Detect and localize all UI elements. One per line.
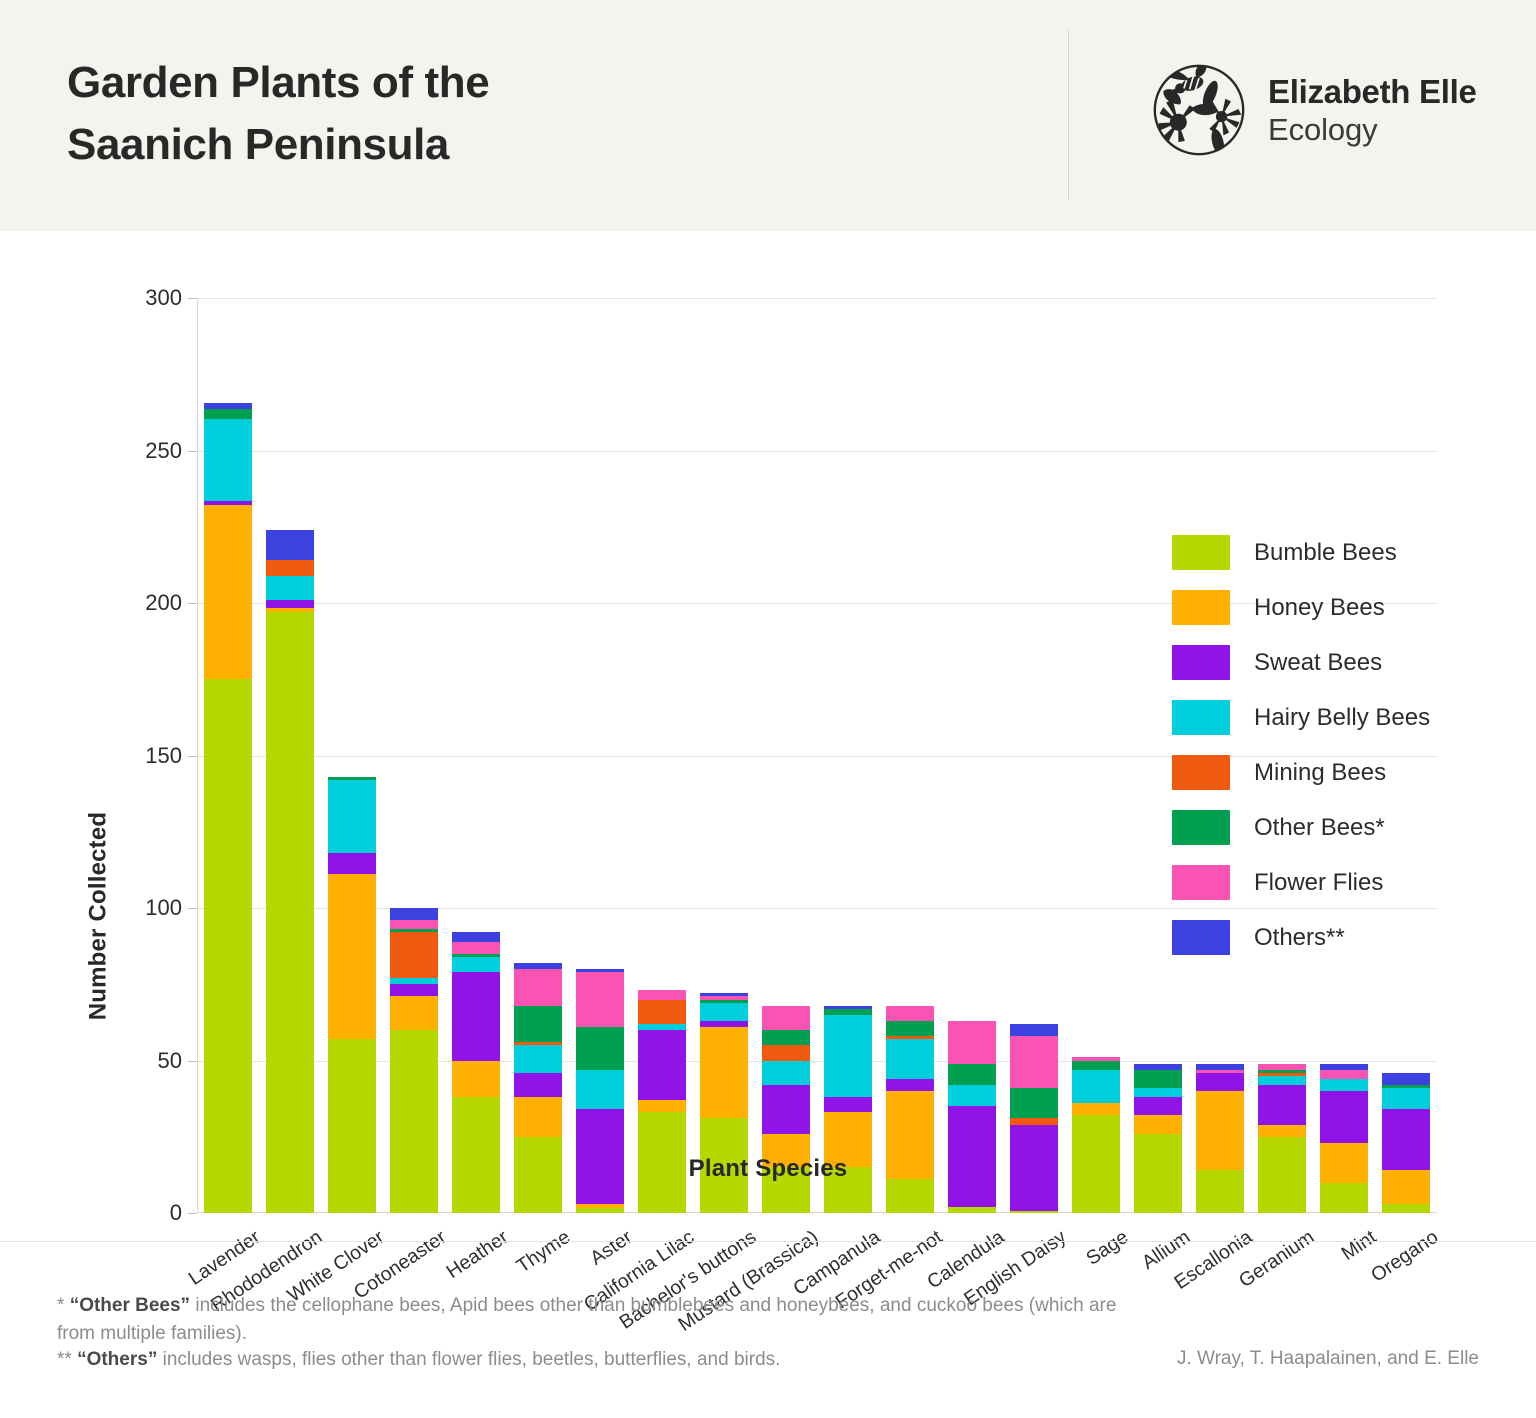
bar-segment xyxy=(1320,1070,1368,1079)
bar-segment xyxy=(1196,1073,1244,1091)
bar-sage[interactable] xyxy=(1072,1057,1120,1213)
footnote-others: ** “Others” includes wasps, flies other … xyxy=(57,1346,1117,1374)
y-axis-tick-mark xyxy=(188,908,197,909)
bar-segment xyxy=(1010,1036,1058,1088)
bar-segment xyxy=(204,419,252,501)
x-axis-label: Oregano xyxy=(1367,1226,1443,1288)
footnote-2-term: “Others” xyxy=(77,1349,157,1370)
footer-divider xyxy=(0,1241,1536,1242)
bar-segment xyxy=(1010,1088,1058,1119)
bar-segment xyxy=(700,1003,748,1021)
bar-segment xyxy=(390,920,438,929)
bar-segment xyxy=(1134,1097,1182,1115)
bar-segment xyxy=(328,780,376,853)
bar-segment xyxy=(1134,1115,1182,1133)
footnote-1-text: includes the cellophane bees, Apid bees … xyxy=(57,1295,1116,1344)
legend-swatch xyxy=(1172,865,1230,900)
bar-segment xyxy=(886,1021,934,1036)
bar-segment xyxy=(700,1027,748,1119)
legend-swatch xyxy=(1172,755,1230,790)
bar-segment xyxy=(948,1064,996,1085)
bar-oregano[interactable] xyxy=(1382,1073,1430,1213)
bar-segment xyxy=(1010,1024,1058,1036)
bar-segment xyxy=(452,957,500,972)
footnote-1-marker: * xyxy=(57,1295,70,1316)
legend-item[interactable]: Mining Bees xyxy=(1172,745,1502,800)
bar-segment xyxy=(638,990,686,999)
bar-segment xyxy=(266,600,314,608)
bar-segment xyxy=(514,1097,562,1137)
bar-segment xyxy=(824,1097,872,1112)
legend-label: Others** xyxy=(1254,924,1345,952)
legend-label: Other Bees* xyxy=(1254,814,1385,842)
bar-segment xyxy=(638,1000,686,1024)
y-axis-tick-mark xyxy=(188,1213,197,1214)
bar-segment xyxy=(452,972,500,1060)
x-axis-label: Thyme xyxy=(513,1226,575,1278)
y-axis-tick-mark xyxy=(188,756,197,757)
legend-label: Flower Flies xyxy=(1254,869,1383,897)
bar-segment xyxy=(576,1027,624,1070)
y-axis-tick-mark xyxy=(188,1061,197,1062)
bar-segment xyxy=(1320,1183,1368,1214)
bar-segment xyxy=(204,409,252,418)
bar-segment xyxy=(452,1061,500,1098)
x-axis-label: Sage xyxy=(1082,1226,1133,1271)
bar-segment xyxy=(1382,1073,1430,1085)
bar-segment xyxy=(762,1030,810,1045)
x-axis-label: Heather xyxy=(442,1226,512,1284)
bar-segment xyxy=(266,612,314,1213)
legend-item[interactable]: Honey Bees xyxy=(1172,580,1502,635)
footnote-1-term: “Other Bees” xyxy=(70,1295,190,1316)
page-title-line-2: Saanich Peninsula xyxy=(67,114,767,176)
brand-name: Elizabeth Elle xyxy=(1268,75,1477,108)
bar-segment xyxy=(1010,1211,1058,1213)
stacked-bar-chart: Number Collected 050100150200250300 Lave… xyxy=(0,231,1536,1241)
bar-segment xyxy=(328,874,376,1039)
bar-calendula[interactable] xyxy=(948,1021,996,1213)
legend-item[interactable]: Flower Flies xyxy=(1172,855,1502,910)
bar-segment xyxy=(514,1073,562,1097)
bar-segment xyxy=(824,1015,872,1097)
bar-segment xyxy=(390,1030,438,1213)
bar-segment xyxy=(1258,1085,1306,1125)
bar-segment xyxy=(514,969,562,1006)
bar-segment xyxy=(1320,1091,1368,1143)
bar-segment xyxy=(390,996,438,1030)
bar-segment xyxy=(886,1179,934,1213)
footnote-2-text: includes wasps, flies other than flower … xyxy=(157,1349,780,1370)
bar-segment xyxy=(762,1045,810,1060)
bar-segment xyxy=(204,679,252,1213)
bar-segment xyxy=(452,932,500,941)
bar-segment xyxy=(638,1100,686,1112)
bar-segment xyxy=(328,853,376,874)
bar-segment xyxy=(390,932,438,978)
page-header: Garden Plants of the Saanich Peninsula xyxy=(0,0,1536,231)
bar-segment xyxy=(1072,1061,1120,1070)
bee-flower-circle-logo-icon xyxy=(1152,63,1246,157)
bar-segment xyxy=(762,1085,810,1134)
bar-segment xyxy=(948,1021,996,1064)
brand-text: Elizabeth Elle Ecology xyxy=(1268,75,1477,145)
y-axis-tick-label: 200 xyxy=(72,590,182,616)
bar-rhododendron[interactable] xyxy=(266,530,314,1213)
chart-legend: Bumble BeesHoney BeesSweat BeesHairy Bel… xyxy=(1172,525,1502,965)
bar-segment xyxy=(762,1061,810,1085)
legend-swatch xyxy=(1172,590,1230,625)
bar-segment xyxy=(1258,1125,1306,1137)
page-title: Garden Plants of the Saanich Peninsula xyxy=(67,52,767,177)
bar-segment xyxy=(576,1070,624,1110)
y-axis-tick-label: 300 xyxy=(72,285,182,311)
legend-label: Mining Bees xyxy=(1254,759,1386,787)
bar-segment xyxy=(948,1085,996,1106)
bar-segment xyxy=(266,530,314,561)
bar-segment xyxy=(638,1030,686,1100)
bar-geranium[interactable] xyxy=(1258,1064,1306,1213)
bar-segment xyxy=(452,942,500,954)
legend-item[interactable]: Other Bees* xyxy=(1172,800,1502,855)
bar-allium[interactable] xyxy=(1134,1064,1182,1213)
bar-segment xyxy=(328,1039,376,1213)
legend-item[interactable]: Hairy Belly Bees xyxy=(1172,690,1502,745)
legend-label: Hairy Belly Bees xyxy=(1254,704,1430,732)
y-axis-tick-label: 100 xyxy=(72,895,182,921)
bar-segment xyxy=(1382,1204,1430,1213)
bar-segment xyxy=(1320,1079,1368,1091)
bar-white-clover[interactable] xyxy=(328,777,376,1213)
bar-segment xyxy=(1134,1070,1182,1088)
bar-lavender[interactable] xyxy=(204,403,252,1213)
legend-item[interactable]: Sweat Bees xyxy=(1172,635,1502,690)
legend-label: Bumble Bees xyxy=(1254,539,1397,567)
bar-segment xyxy=(1072,1070,1120,1104)
legend-item[interactable]: Bumble Bees xyxy=(1172,525,1502,580)
legend-item[interactable]: Others** xyxy=(1172,910,1502,965)
bar-segment xyxy=(266,576,314,600)
y-axis-tick-label: 250 xyxy=(72,438,182,464)
bar-english-daisy[interactable] xyxy=(1010,1024,1058,1213)
y-axis-tick-label: 0 xyxy=(72,1200,182,1226)
legend-swatch xyxy=(1172,645,1230,680)
bar-segment xyxy=(514,1006,562,1043)
bar-segment xyxy=(514,1045,562,1072)
bar-segment xyxy=(1382,1088,1430,1109)
bar-segment xyxy=(1072,1103,1120,1115)
y-axis-tick-mark xyxy=(188,298,197,299)
legend-swatch xyxy=(1172,810,1230,845)
bar-segment xyxy=(390,984,438,996)
bar-segment xyxy=(266,560,314,575)
bar-segment xyxy=(948,1207,996,1213)
legend-label: Sweat Bees xyxy=(1254,649,1382,677)
x-axis-label: Mint xyxy=(1337,1226,1380,1266)
y-axis-tick-mark xyxy=(188,451,197,452)
legend-swatch xyxy=(1172,920,1230,955)
bar-segment xyxy=(886,1079,934,1091)
bar-escallonia[interactable] xyxy=(1196,1064,1244,1213)
bar-segment xyxy=(886,1039,934,1079)
bar-segment xyxy=(886,1006,934,1021)
bar-segment xyxy=(1134,1088,1182,1097)
bar-segment xyxy=(390,908,438,920)
bar-segment xyxy=(576,972,624,1027)
x-axis-title: Plant Species xyxy=(0,1155,1536,1183)
legend-swatch xyxy=(1172,535,1230,570)
bar-segment xyxy=(1258,1076,1306,1085)
brand-lockup: Elizabeth Elle Ecology xyxy=(1152,63,1477,157)
page-title-line-1: Garden Plants of the xyxy=(67,52,767,114)
bar-mint[interactable] xyxy=(1320,1064,1368,1213)
infographic-page: Garden Plants of the Saanich Peninsula xyxy=(0,0,1536,1418)
footnote-other-bees: * “Other Bees” includes the cellophane b… xyxy=(57,1292,1117,1347)
bar-segment xyxy=(762,1006,810,1030)
y-axis-tick-label: 150 xyxy=(72,743,182,769)
bar-segment xyxy=(576,1208,624,1213)
legend-swatch xyxy=(1172,700,1230,735)
bar-segment xyxy=(204,505,252,679)
header-divider xyxy=(1068,30,1069,200)
y-axis-tick-label: 50 xyxy=(72,1048,182,1074)
author-credit: J. Wray, T. Haapalainen, and E. Elle xyxy=(1177,1348,1479,1370)
legend-label: Honey Bees xyxy=(1254,594,1385,622)
brand-subtitle: Ecology xyxy=(1268,114,1477,145)
y-axis-tick-mark xyxy=(188,603,197,604)
footnote-2-marker: ** xyxy=(57,1349,77,1370)
